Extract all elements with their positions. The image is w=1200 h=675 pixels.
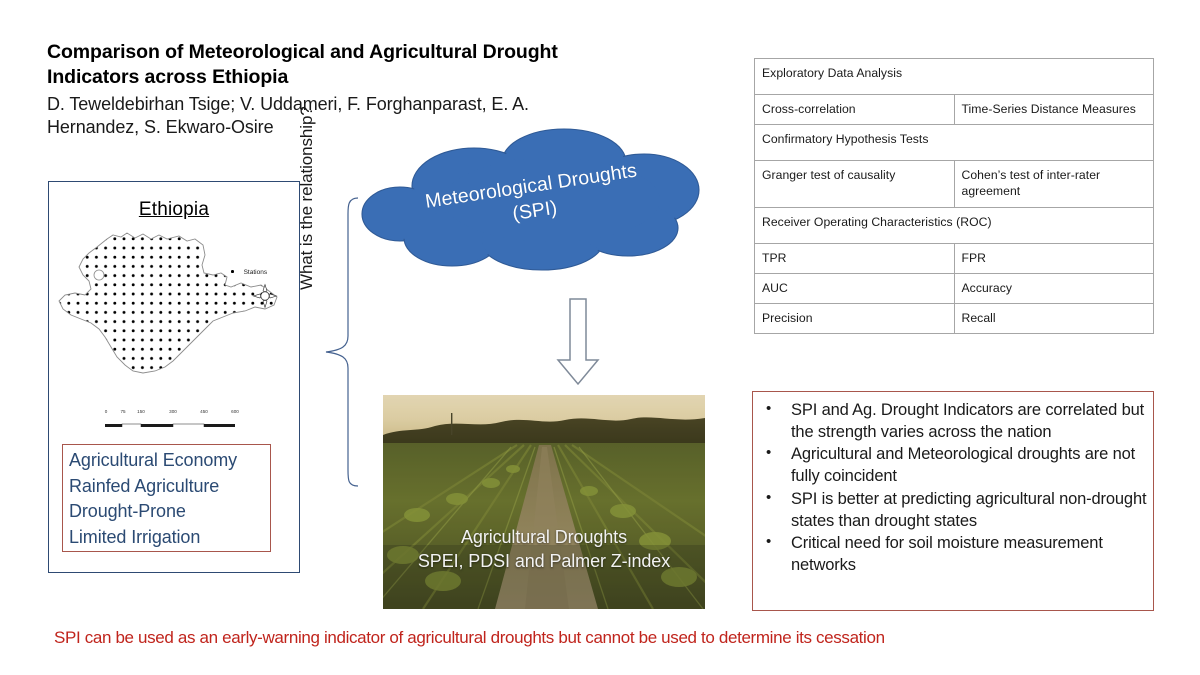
list-item: SPI is better at predicting agricultural…	[757, 489, 1147, 533]
table-row: Confirmatory Hypothesis Tests	[755, 125, 1154, 161]
key-fact-item: Rainfed Agriculture	[69, 474, 270, 500]
table-row: AUC Accuracy	[755, 273, 1154, 303]
scale-tick-2: 150	[137, 409, 145, 414]
table-row: TPR FPR	[755, 243, 1154, 273]
table-cell: Precision	[755, 304, 955, 334]
list-item: Agricultural and Meteorological droughts…	[757, 444, 1147, 488]
poster-slide: Comparison of Meteorological and Agricul…	[0, 0, 1200, 675]
scale-tick-4: 450	[200, 409, 208, 414]
table-cell: FPR	[954, 243, 1154, 273]
table-row: Receiver Operating Characteristics (ROC)	[755, 207, 1154, 243]
table-cell: AUC	[755, 273, 955, 303]
list-item: Critical need for soil moisture measurem…	[757, 533, 1147, 577]
table-cell: Accuracy	[954, 273, 1154, 303]
page-title: Comparison of Meteorological and Agricul…	[47, 40, 587, 90]
table-row: Precision Recall	[755, 304, 1154, 334]
list-item: SPI and Ag. Drought Indicators are corre…	[757, 400, 1147, 444]
table-cell: Receiver Operating Characteristics (ROC)	[755, 207, 1154, 243]
conclusion-statement: SPI can be used as an early-warning indi…	[54, 628, 1154, 648]
map-title: Ethiopia	[55, 199, 293, 221]
meteorological-cloud: Meteorological Droughts (SPI)	[356, 122, 706, 272]
table-row: Granger test of causality Cohen’s test o…	[755, 161, 1154, 207]
table-cell: Confirmatory Hypothesis Tests	[755, 125, 1154, 161]
stations-legend: Stations	[231, 269, 267, 276]
table-cell: Time-Series Distance Measures	[954, 95, 1154, 125]
key-fact-item: Agricultural Economy	[69, 448, 270, 474]
stations-legend-label: Stations	[244, 269, 268, 276]
key-fact-item: Limited Irrigation	[69, 525, 270, 551]
table-cell: Cohen’s test of inter-rater agreement	[954, 161, 1154, 207]
station-dot-icon	[231, 270, 234, 273]
methods-table: Exploratory Data Analysis Cross-correlat…	[754, 58, 1154, 334]
relationship-question-label: What is the relationship?	[297, 106, 317, 290]
key-facts-box: Agricultural Economy Rainfed Agriculture…	[62, 444, 271, 552]
table-cell: Exploratory Data Analysis	[755, 59, 1154, 95]
compass-rose-icon	[252, 283, 278, 309]
findings-list: SPI and Ag. Drought Indicators are corre…	[757, 400, 1147, 577]
table-cell: Cross-correlation	[755, 95, 955, 125]
table-row: Exploratory Data Analysis	[755, 59, 1154, 95]
ethiopia-outline-map	[55, 225, 293, 425]
field-photo-graphic	[383, 395, 705, 609]
scale-tick-3: 300	[169, 409, 177, 414]
photo-caption: Agricultural Droughts SPEI, PDSI and Pal…	[383, 526, 705, 574]
scale-tick-0: 0	[105, 409, 108, 414]
table-cell: TPR	[755, 243, 955, 273]
map-figure: Ethiopia Stations	[55, 187, 293, 427]
scale-tick-1: 75	[120, 409, 125, 414]
table-cell: Recall	[954, 304, 1154, 334]
scale-bar-graphic	[103, 423, 243, 427]
key-findings-box: SPI and Ag. Drought Indicators are corre…	[752, 391, 1154, 611]
ethiopia-map-panel: Ethiopia Stations	[48, 181, 300, 573]
map-scale-bar: 0 75 150 300 450 600	[103, 409, 243, 427]
scale-tick-5: 600	[231, 409, 239, 414]
table-row: Cross-correlation Time-Series Distance M…	[755, 95, 1154, 125]
photo-caption-line1: Agricultural Droughts	[383, 526, 705, 550]
agricultural-field-photo: Agricultural Droughts SPEI, PDSI and Pal…	[383, 395, 705, 609]
key-fact-item: Drought-Prone	[69, 499, 270, 525]
table-cell: Granger test of causality	[755, 161, 955, 207]
down-arrow-icon	[553, 298, 603, 386]
photo-caption-line2: SPEI, PDSI and Palmer Z-index	[383, 550, 705, 574]
scale-bar-labels: 0 75 150 300 450 600	[103, 409, 243, 417]
